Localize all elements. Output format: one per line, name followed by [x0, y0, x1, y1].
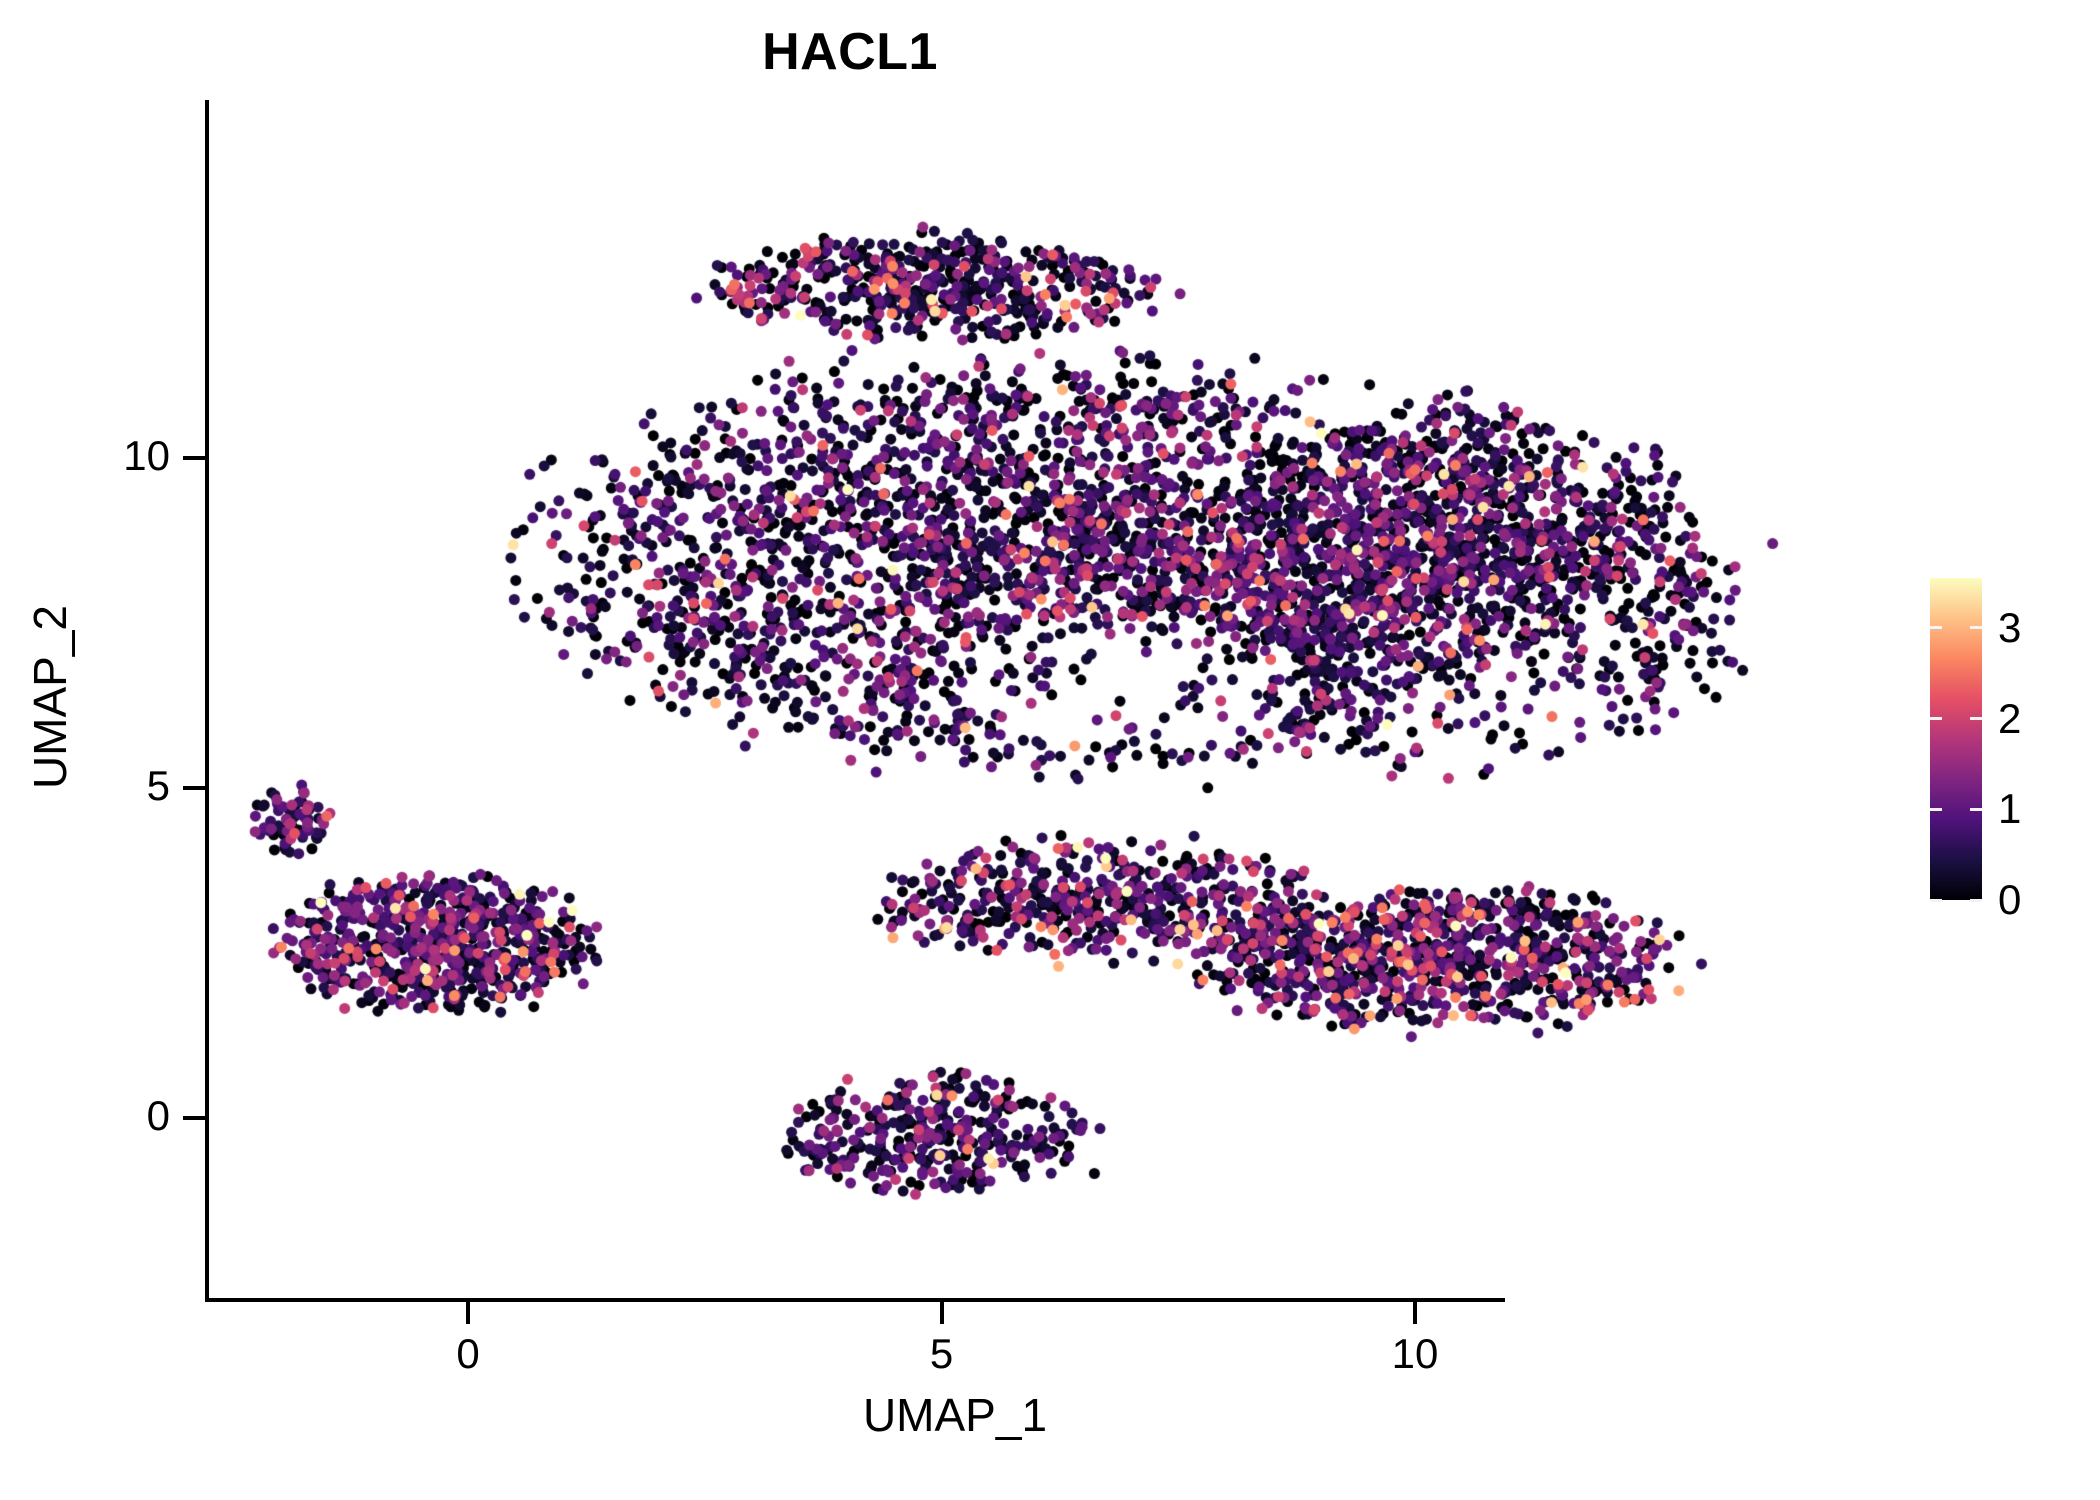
- umap-feature-plot: HACL1 0510 0510 UMAP_2 UMAP_1 0123: [0, 0, 2100, 1500]
- x-axis-line: [205, 1298, 1505, 1302]
- colorbar-tick-mark: [1970, 899, 1982, 902]
- colorbar-tick-mark: [1970, 717, 1982, 720]
- y-tick-label: 10: [20, 432, 170, 480]
- x-tick-label: 5: [867, 1330, 1017, 1378]
- colorbar-tick-mark: [1930, 626, 1942, 629]
- x-tick-mark: [466, 1302, 470, 1324]
- y-tick-mark: [183, 1116, 205, 1120]
- y-axis-line: [205, 100, 209, 1302]
- colorbar-tick-label: 1: [1998, 785, 2021, 833]
- y-tick-mark: [183, 456, 205, 460]
- x-tick-label: 0: [393, 1330, 543, 1378]
- scatter-plot-area: [0, 0, 2100, 1500]
- colorbar-tick-label: 2: [1998, 695, 2021, 743]
- colorbar-tick-mark: [1970, 808, 1982, 811]
- colorbar-legend: 0123: [1930, 578, 1982, 900]
- colorbar-tick-label: 3: [1998, 604, 2021, 652]
- colorbar-tick-mark: [1930, 808, 1942, 811]
- y-tick-label: 0: [20, 1092, 170, 1140]
- x-tick-mark: [940, 1302, 944, 1324]
- scatter-canvas: [0, 0, 2100, 1500]
- y-axis-title: UMAP_2: [23, 497, 77, 897]
- y-tick-mark: [183, 786, 205, 790]
- colorbar-tick-mark: [1930, 899, 1942, 902]
- colorbar-tick-mark: [1970, 626, 1982, 629]
- colorbar-tick-label: 0: [1998, 876, 2021, 924]
- x-tick-mark: [1413, 1302, 1417, 1324]
- x-axis-title: UMAP_1: [705, 1388, 1205, 1442]
- colorbar-tick-mark: [1930, 717, 1942, 720]
- x-tick-label: 10: [1340, 1330, 1490, 1378]
